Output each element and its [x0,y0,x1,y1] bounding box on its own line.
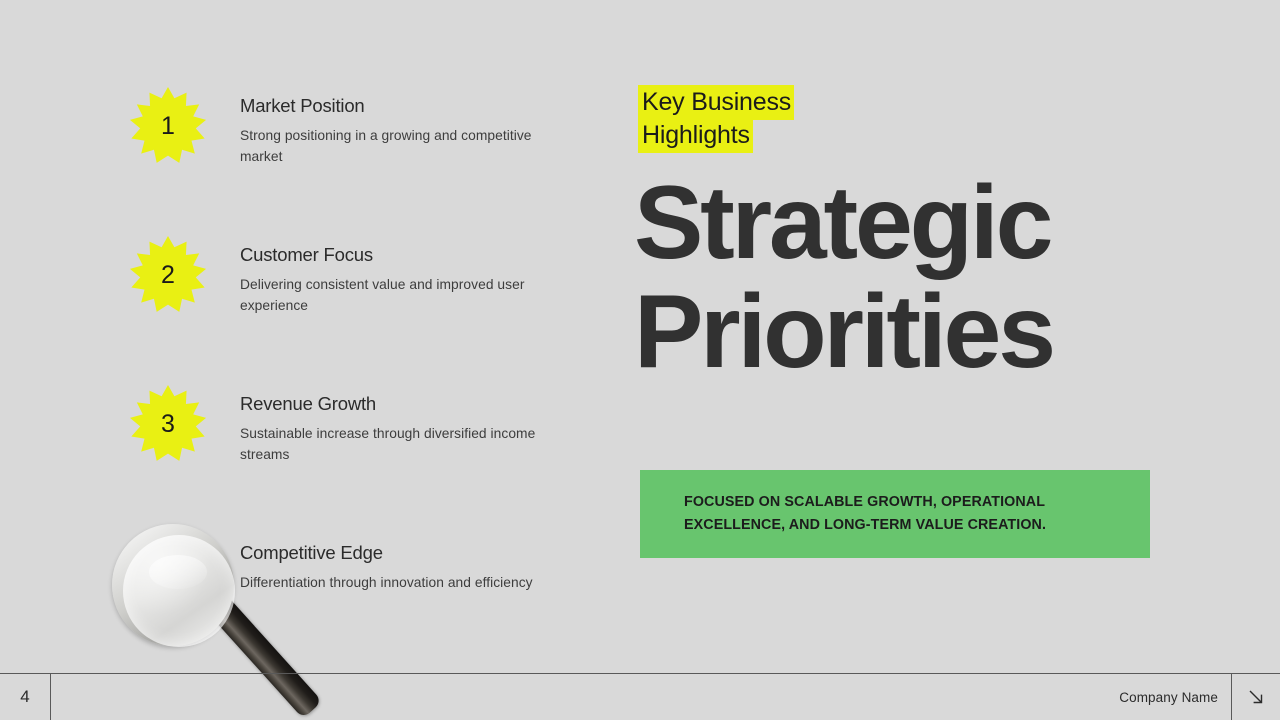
list-item-description: Delivering consistent value and improved… [240,275,540,317]
eyebrow-heading: Key Business Highlights [638,86,898,152]
list-item-badge: 4 [120,531,216,627]
list-item-text: Customer Focus Delivering consistent val… [240,245,540,317]
list-item-badge: 3 [120,382,216,478]
right-column: Key Business Highlights Strategic Priori… [638,86,1168,382]
list-item-badge: 1 [120,84,216,180]
list-item-description: Differentiation through innovation and e… [240,573,540,594]
list-item[interactable]: 1 Market Position Strong positioning in … [120,84,540,233]
callout-text: FOCUSED ON SCALABLE GROWTH, OPERATIONAL … [640,491,1150,537]
list-item[interactable]: 4 Competitive Edge Differentiation throu… [120,531,540,680]
list-item-title: Revenue Growth [240,394,540,414]
list-item-text: Market Position Strong positioning in a … [240,96,540,168]
list-item[interactable]: 3 Revenue Growth Sustainable increase th… [120,382,540,531]
page-title-line-2: Priorities [634,283,1168,382]
list-item-number: 2 [129,236,207,314]
page-title-line-1: Strategic [634,165,1050,281]
list-item-title: Customer Focus [240,245,540,265]
list-item-number: 3 [129,385,207,463]
highlights-list: 1 Market Position Strong positioning in … [120,84,540,680]
next-slide-button[interactable] [1231,674,1280,720]
slide: 1 Market Position Strong positioning in … [0,0,1280,720]
list-item-description: Sustainable increase through diversified… [240,424,540,466]
eyebrow-line-1: Key Business [638,85,794,120]
slide-footer: 4 Company Name [0,673,1280,720]
list-item-badge: 2 [120,233,216,329]
list-item-text: Competitive Edge Differentiation through… [240,543,540,594]
list-item-number: 1 [129,87,207,165]
list-item-number: 4 [129,534,207,612]
list-item-description: Strong positioning in a growing and comp… [240,126,540,168]
eyebrow-line-2: Highlights [638,118,753,153]
arrow-down-right-icon [1245,686,1267,708]
list-item-title: Competitive Edge [240,543,540,563]
list-item-title: Market Position [240,96,540,116]
list-item-text: Revenue Growth Sustainable increase thro… [240,394,540,466]
page-title: Strategic Priorities [634,174,1168,382]
callout-box: FOCUSED ON SCALABLE GROWTH, OPERATIONAL … [640,470,1150,558]
list-item[interactable]: 2 Customer Focus Delivering consistent v… [120,233,540,382]
page-number: 4 [0,674,51,720]
company-name: Company Name [1119,674,1218,720]
